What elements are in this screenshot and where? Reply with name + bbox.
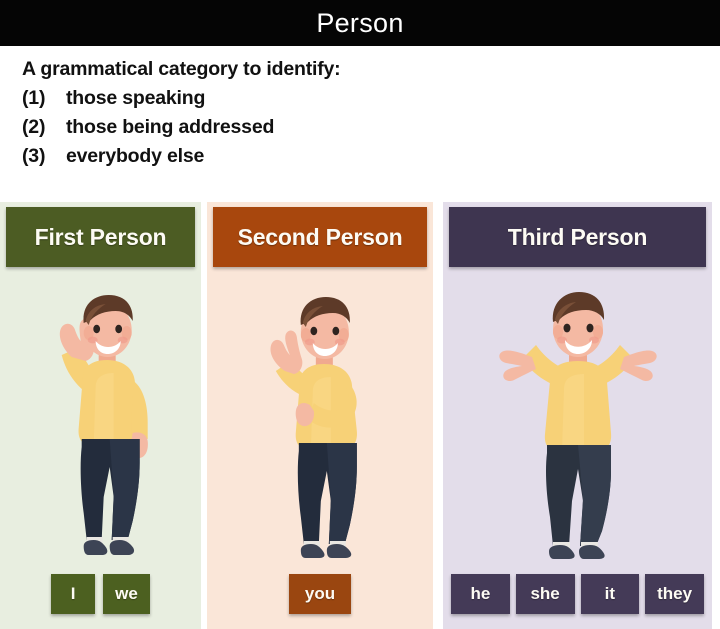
intro-block: A grammatical category to identify: (1) … xyxy=(0,46,720,202)
figure-area-second-person xyxy=(207,267,433,565)
figure-area-first-person xyxy=(0,267,201,565)
column-first-person: First Person xyxy=(0,202,201,629)
intro-lead-text: A grammatical category to identify: xyxy=(22,58,720,81)
pronoun-chip[interactable]: you xyxy=(289,574,351,614)
column-header-second-person: Second Person xyxy=(213,207,427,267)
person-columns: First Person xyxy=(0,202,720,629)
slide-root: Person A grammatical category to identif… xyxy=(0,0,720,629)
pronoun-chips-third-person: he she it they xyxy=(443,565,712,629)
column-header-first-person: First Person xyxy=(6,207,195,267)
list-item-number: (3) xyxy=(22,145,66,168)
column-header-label: First Person xyxy=(35,224,167,251)
list-item-label: those speaking xyxy=(66,87,720,110)
list-item-number: (1) xyxy=(22,87,66,110)
column-header-label: Third Person xyxy=(508,224,647,251)
pronoun-chip[interactable]: I xyxy=(51,574,95,614)
list-item: (3) everybody else xyxy=(22,145,720,168)
person-pointing-illustration xyxy=(252,287,394,559)
title-bar: Person xyxy=(0,0,720,46)
person-arms-spread-illustration xyxy=(480,283,676,559)
pronoun-chip[interactable]: we xyxy=(103,574,150,614)
list-item-label: everybody else xyxy=(66,145,720,168)
intro-list: (1) those speaking (2) those being addre… xyxy=(22,87,720,168)
pronoun-chips-first-person: I we xyxy=(0,565,201,629)
pronoun-chip[interactable]: it xyxy=(581,574,640,614)
column-header-label: Second Person xyxy=(238,224,403,251)
pronoun-chip[interactable]: she xyxy=(516,574,575,614)
list-item-number: (2) xyxy=(22,116,66,139)
column-third-person: Third Person xyxy=(443,202,712,629)
pronoun-chips-second-person: you xyxy=(207,565,433,629)
person-waving-illustration xyxy=(35,287,177,559)
list-item: (2) those being addressed xyxy=(22,116,720,139)
column-second-person: Second Person xyxy=(207,202,433,629)
pronoun-chip[interactable]: he xyxy=(451,574,510,614)
list-item-label: those being addressed xyxy=(66,116,720,139)
column-header-third-person: Third Person xyxy=(449,207,706,267)
page-title: Person xyxy=(316,10,403,37)
figure-area-third-person xyxy=(443,267,712,565)
pronoun-chip[interactable]: they xyxy=(645,574,704,614)
list-item: (1) those speaking xyxy=(22,87,720,110)
